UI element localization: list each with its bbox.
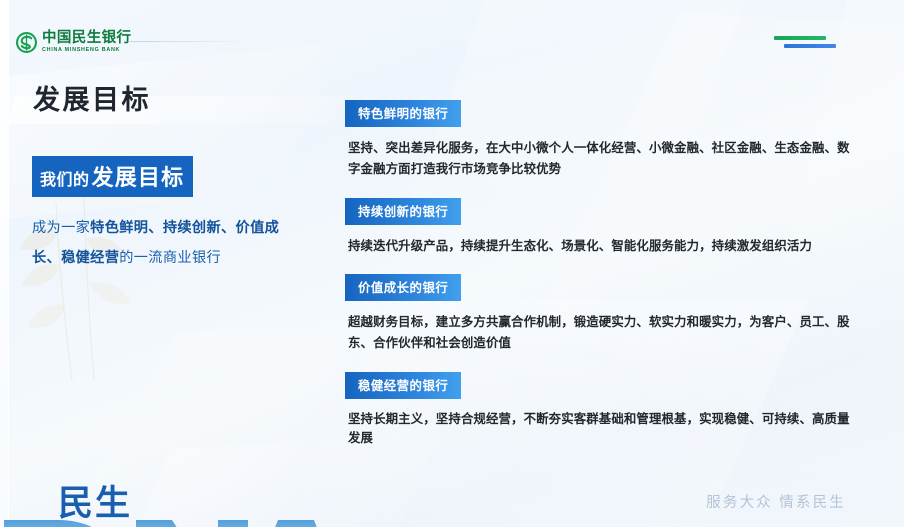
goal-section: 特色鲜明的银行 坚持、突出差异化服务，在大中小微个人一体化经营、小微金融、社区金…	[345, 100, 890, 180]
background-shard	[0, 43, 340, 228]
minsheng-s-emblem-icon	[16, 32, 37, 53]
accent-bar-blue	[784, 44, 836, 48]
brand-name-cn: 中国民生银行	[42, 31, 131, 46]
left-edge-accent	[0, 0, 9, 527]
header-divider-line	[130, 41, 248, 42]
dna-wordmark-image	[0, 510, 356, 527]
slide-canvas: 中国民生银行 CHINA MINSHENG BANK 发展目标 我们的 发展目标…	[0, 0, 904, 527]
brand-name-en: CHINA MINSHENG BANK	[42, 47, 131, 53]
goal-description: 持续迭代升级产品，持续提升生态化、场景化、智能化服务能力，持续激发组织活力	[348, 236, 853, 257]
goal-banner: 我们的 发展目标	[32, 156, 193, 197]
dna-graphic-block: 民生	[0, 482, 400, 527]
goal-banner-prefix: 我们的	[40, 166, 90, 190]
vision-part-3: 银行	[192, 250, 221, 266]
goal-banner-emphasis: 发展目标	[92, 160, 185, 192]
slide-footer-slogan: 服务大众 情系民生	[706, 491, 846, 512]
vision-statement: 成为一家特色鲜明、持续创新、价值成长、稳健经营的一流商业银行	[32, 214, 304, 273]
goal-badge: 稳健经营的银行	[345, 372, 461, 399]
brand-logo: 中国民生银行 CHINA MINSHENG BANK	[16, 31, 131, 54]
page-title-block: 发展目标	[0, 82, 360, 126]
goal-section: 持续创新的银行 持续迭代升级产品，持续提升生态化、场景化、智能化服务能力，持续激…	[345, 198, 890, 257]
goal-badge: 特色鲜明的银行	[345, 100, 461, 127]
header-accent-bars	[774, 36, 836, 49]
vision-bold-1: 特色鲜明、持续创新、	[90, 220, 235, 236]
accent-bar-green	[774, 36, 826, 40]
goal-section: 价值成长的银行 超越财务目标，建立多方共赢合作机制，锻造硬实力、软实力和暖实力，…	[345, 274, 890, 354]
goal-section: 稳健经营的银行 坚持长期主义，坚持合规经营，不断夯实客群基础和管理根基，实现稳健…	[345, 372, 890, 448]
goal-description: 坚持长期主义，坚持合规经营，不断夯实客群基础和管理根基，实现稳健、可持续、高质量…	[348, 410, 853, 448]
goal-badge: 价值成长的银行	[345, 274, 461, 301]
goals-list: 特色鲜明的银行 坚持、突出差异化服务，在大中小微个人一体化经营、小微金融、社区金…	[345, 100, 890, 466]
goal-badge: 持续创新的银行	[345, 198, 461, 225]
vision-part-1: 成为一家	[32, 220, 90, 236]
goal-description: 超越财务目标，建立多方共赢合作机制，锻造硬实力、软实力和暖实力，为客户、员工、股…	[348, 312, 853, 354]
slide-header: 中国民生银行 CHINA MINSHENG BANK	[0, 0, 904, 66]
goal-description: 坚持、突出差异化服务，在大中小微个人一体化经营、小微金融、社区金融、生态金融、数…	[348, 138, 853, 180]
page-title: 发展目标	[33, 82, 151, 118]
vision-part-2: 的一流商业	[119, 250, 192, 266]
